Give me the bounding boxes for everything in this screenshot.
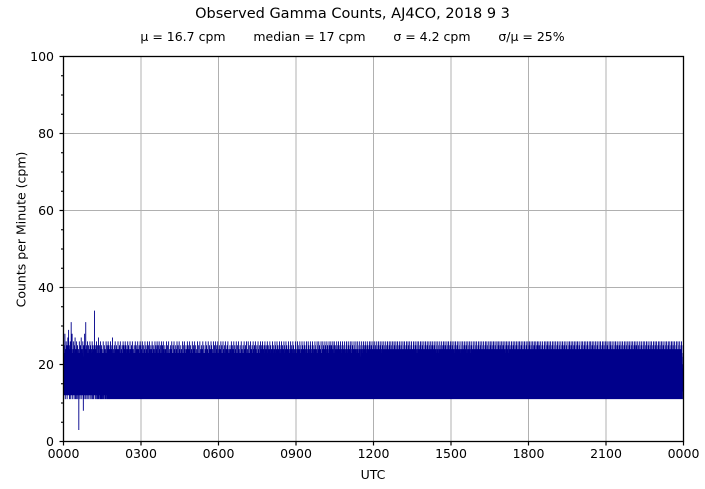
x-tick-label: 0000	[24, 447, 104, 461]
y-tick-label: 20	[8, 359, 54, 371]
plot-canvas	[0, 0, 705, 489]
x-tick-label: 1800	[489, 447, 569, 461]
x-tick-label: 0600	[179, 447, 259, 461]
gamma-counts-figure: Observed Gamma Counts, AJ4CO, 2018 9 3 μ…	[0, 0, 705, 489]
x-tick-label: 0900	[256, 447, 336, 461]
y-tick-label: 80	[8, 128, 54, 140]
y-tick-label: 100	[8, 51, 54, 63]
x-tick-label: 2100	[566, 447, 646, 461]
y-tick-label: 40	[8, 282, 54, 294]
x-tick-label: 1500	[411, 447, 491, 461]
x-tick-label: 0300	[101, 447, 181, 461]
x-tick-label: 0000	[644, 447, 705, 461]
x-tick-label: 1200	[334, 447, 414, 461]
y-tick-label: 60	[8, 205, 54, 217]
